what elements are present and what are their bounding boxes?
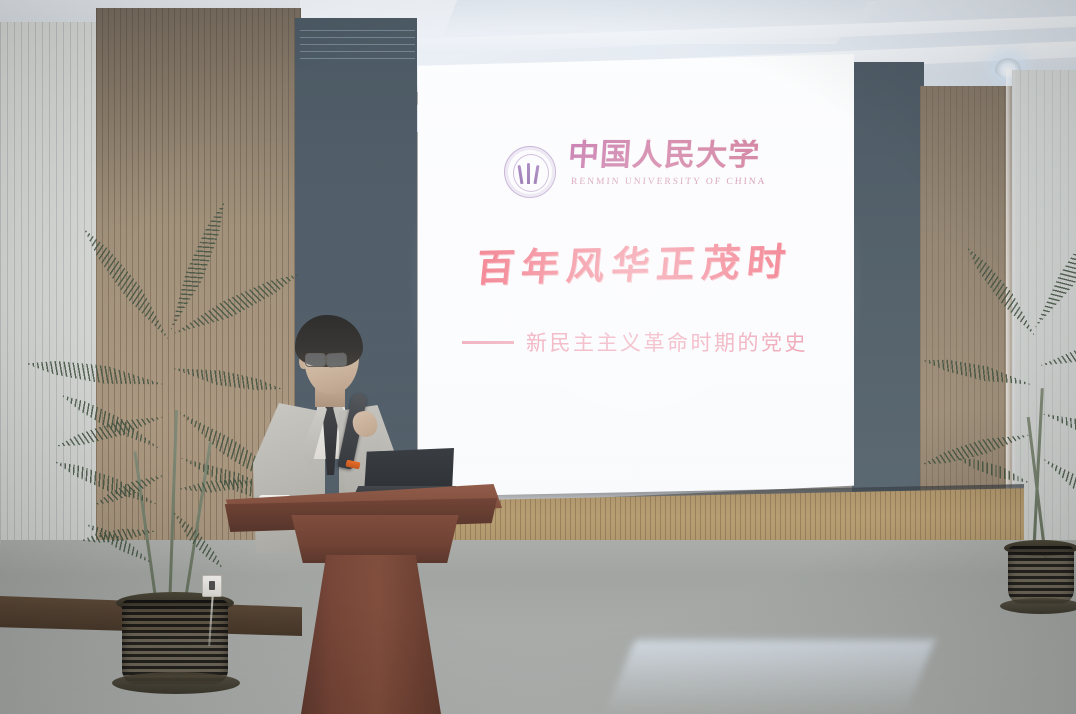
planter-saucer xyxy=(1000,598,1076,614)
screen-roller-housing xyxy=(300,30,415,60)
eyeglasses-bridge xyxy=(324,358,328,360)
planter-pot xyxy=(1008,546,1074,604)
photo-scene: 中国人民大学 RENMIN UNIVERSITY OF CHINA 百年风华正茂… xyxy=(0,0,1076,714)
palm-frond xyxy=(1040,406,1076,462)
floor-reflection-screen xyxy=(605,640,935,714)
university-branding: 中国人民大学 RENMIN UNIVERSITY OF CHINA xyxy=(504,140,766,198)
slide-subtitle-row: 新民主主义革命时期的党史 xyxy=(462,327,808,357)
renmin-university-seal-icon xyxy=(504,146,556,198)
university-name-en: RENMIN UNIVERSITY OF CHINA xyxy=(571,177,767,187)
palm-stem xyxy=(168,410,178,610)
eyeglasses-lens-right xyxy=(326,352,348,367)
screen-border-right xyxy=(852,62,924,510)
slide-title: 百年风华正茂时 xyxy=(474,231,795,293)
university-name-cn: 中国人民大学 xyxy=(567,140,761,172)
slide-subtitle-dash xyxy=(462,341,514,344)
planter-saucer xyxy=(112,672,240,694)
slide-subtitle: 新民主主义革命时期的党史 xyxy=(526,327,808,357)
university-name-block: 中国人民大学 RENMIN UNIVERSITY OF CHINA xyxy=(568,140,766,187)
palm-stem xyxy=(1027,417,1047,558)
presentation-slide: 中国人民大学 RENMIN UNIVERSITY OF CHINA 百年风华正茂… xyxy=(416,54,854,506)
eyeglasses-lens-left xyxy=(305,353,326,367)
palm-plant-right xyxy=(988,318,1076,588)
projection-screen: 中国人民大学 RENMIN UNIVERSITY OF CHINA 百年风华正茂… xyxy=(416,54,854,506)
seal-figures xyxy=(518,160,542,184)
palm-frond xyxy=(1038,320,1076,376)
palm-frond xyxy=(1038,453,1076,528)
